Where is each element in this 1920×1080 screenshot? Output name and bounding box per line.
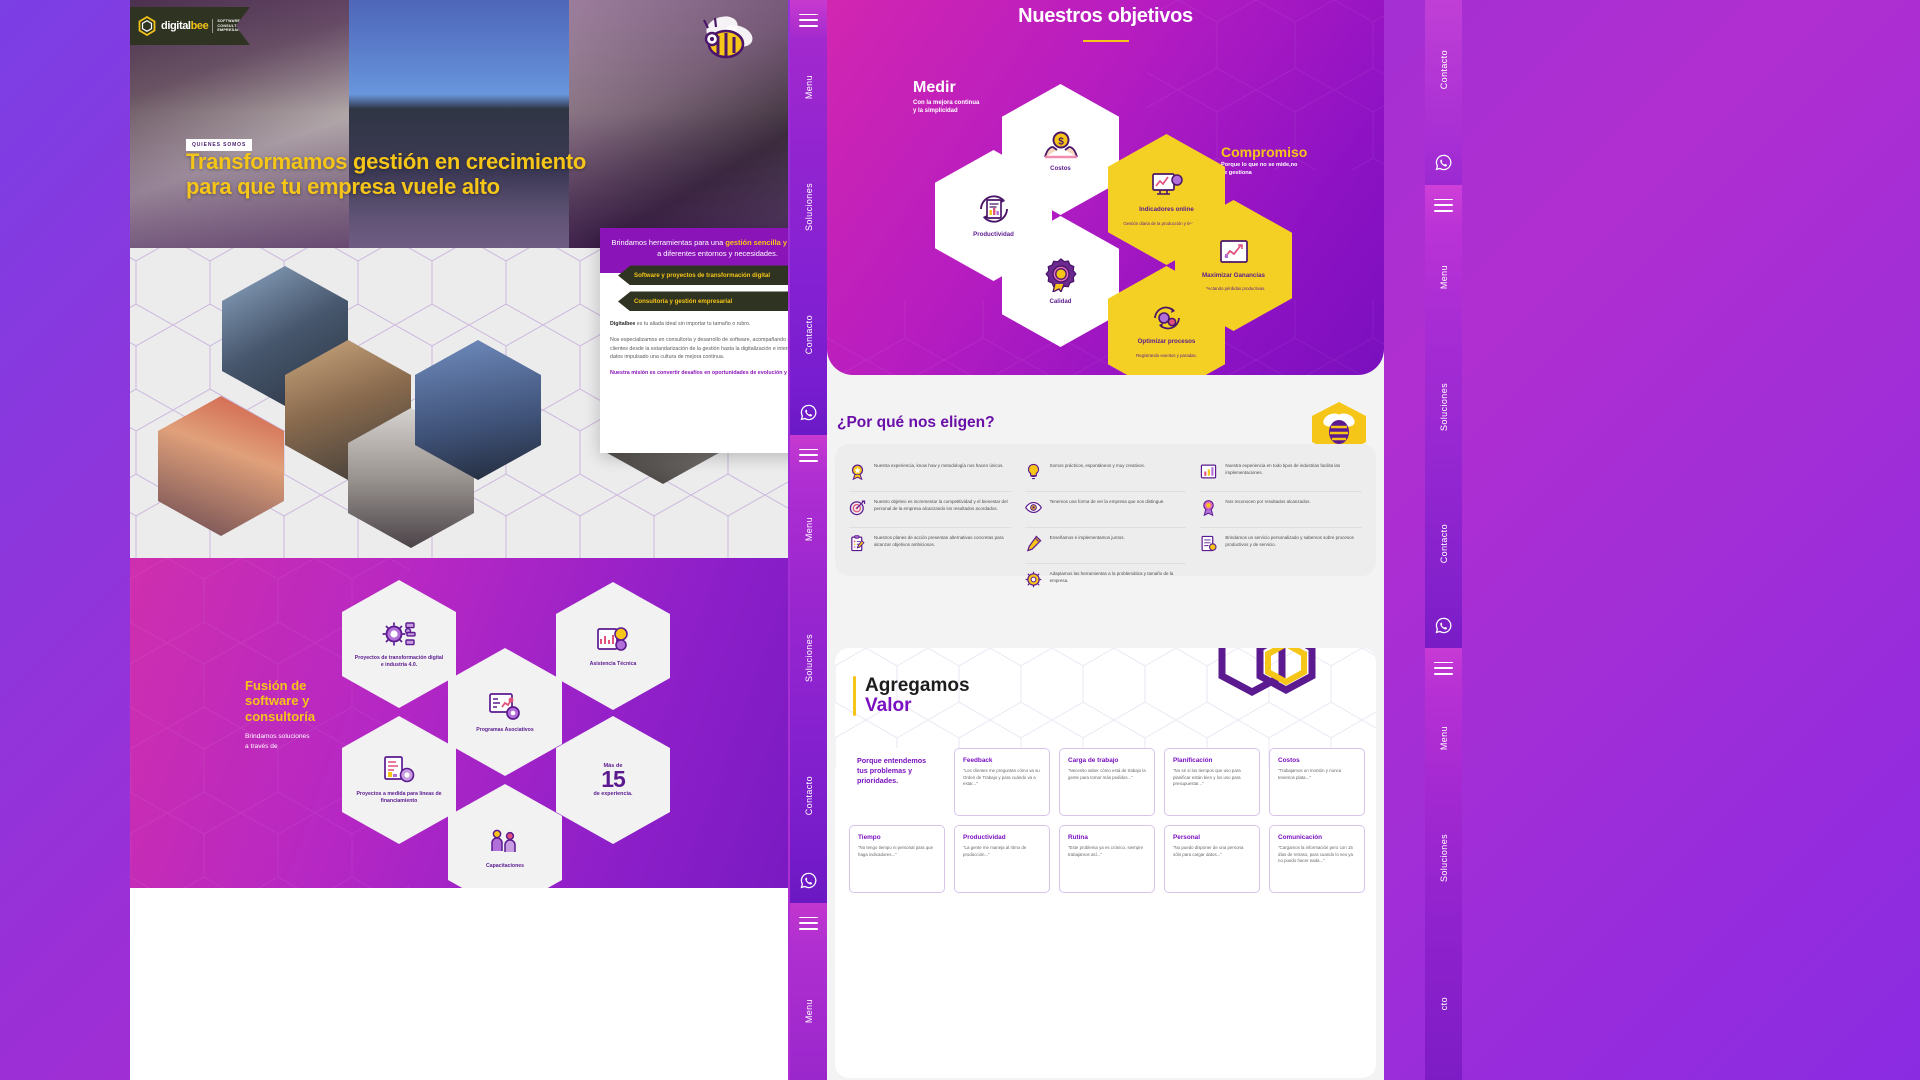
- info-cta-software[interactable]: Software y proyectos de transformación d…: [618, 265, 788, 285]
- document-gear-icon: [382, 755, 416, 785]
- rail-label: Menu: [804, 75, 814, 99]
- rail-r-item-menu-2[interactable]: Menu: [1425, 688, 1462, 788]
- value-card[interactable]: Costos"Trabajamos un montón y nunca tene…: [1269, 748, 1365, 816]
- why-us-panel: Nuestra experiencia, know how y metodolo…: [835, 444, 1376, 576]
- why-item: Somos prácticos, espontáneos y muy creat…: [1025, 456, 1187, 492]
- why-item-text: Brindamos un servicio personalizado y sa…: [1225, 535, 1362, 549]
- hero-headline: Transformamos gestión en crecimiento par…: [186, 150, 586, 199]
- hexagon-double-logo-icon: [1214, 648, 1324, 706]
- experience-block: Más de 15 de experiencia.: [594, 763, 633, 797]
- why-item-text: Nuestro objetivo es incrementar la compe…: [874, 499, 1011, 513]
- why-item: Nuestro objetivo es incrementar la compe…: [849, 492, 1011, 528]
- experience-number: 15: [594, 769, 633, 791]
- rail-r-menu-toggle-1[interactable]: [1425, 185, 1462, 225]
- value-heading: Agregamos Valor: [853, 676, 970, 716]
- service-icon: [1200, 535, 1217, 552]
- objective-hex-label: Maximizar Ganancias: [1202, 272, 1265, 280]
- money-hands-icon: $: [1043, 127, 1079, 159]
- nav-rail-left[interactable]: Menu Soluciones Contacto Menu Soluciones…: [790, 0, 827, 1080]
- value-card-title: Feedback: [963, 757, 1041, 764]
- menu-icon: [1434, 662, 1453, 675]
- rail-r-whatsapp-1[interactable]: [1425, 140, 1462, 185]
- why-item: Brindamos un servicio personalizado y sa…: [1200, 528, 1362, 564]
- value-card-text: "La gente me maneja al ritmo de producci…: [963, 845, 1041, 858]
- medir-subtitle: Con la mejora continua y la simplicidad: [913, 99, 979, 115]
- whatsapp-icon: [800, 872, 817, 889]
- objective-hex-label: Indicadores online: [1139, 206, 1194, 214]
- info-card-body: Digitalbee es tu aliada ideal sin import…: [600, 311, 788, 390]
- value-card[interactable]: Feedback"Los clientes me preguntan cómo …: [954, 748, 1050, 816]
- value-card-title: Planificación: [1173, 757, 1251, 764]
- compromiso-title: Compromiso: [1221, 145, 1307, 159]
- rail-label: Contacto: [804, 776, 814, 815]
- rail-item-soluciones-2[interactable]: Soluciones: [790, 583, 827, 733]
- whatsapp-icon: [1435, 617, 1452, 634]
- info-card-intro: Brindamos herramientas para una gestión …: [609, 238, 788, 259]
- info-card-p2: Nos especializamos en consultoría y desa…: [610, 336, 788, 362]
- menu-icon: [1434, 199, 1453, 212]
- why-item-text: Nuestra experiencia, know how y metodolo…: [874, 463, 1004, 470]
- rail-label: Soluciones: [804, 634, 814, 682]
- why-item-text: Somos prácticos, espontáneos y muy creat…: [1050, 463, 1145, 470]
- screenshot-root: digitalbee SOFTWARE Y CONSULTORÍA EMPRES…: [0, 0, 1920, 1080]
- menu-icon: [799, 449, 818, 462]
- value-card[interactable]: Carga de trabajo"Necesito saber cómo est…: [1059, 748, 1155, 816]
- rail-menu-toggle-2[interactable]: [790, 435, 827, 475]
- gears-cycle-icon: [1151, 304, 1183, 332]
- why-item-text: Tenemos una forma de ver la empresa que …: [1050, 499, 1165, 506]
- why-us-column-1: Nuestra experiencia, know how y metodolo…: [849, 456, 1011, 600]
- hexagon-bee-icon: [138, 16, 156, 36]
- rail-menu-toggle-3[interactable]: [790, 903, 827, 943]
- rail-label: Menu: [804, 999, 814, 1023]
- award-icon: [1200, 499, 1217, 516]
- rail-menu-toggle-1[interactable]: [790, 0, 827, 40]
- why-item-text: Enseñamos e implementamos juntos.: [1050, 535, 1125, 542]
- rail-r-item-contacto-2[interactable]: Contacto: [1425, 485, 1462, 603]
- value-card[interactable]: Productividad"La gente me maneja al ritm…: [954, 825, 1050, 893]
- objective-hex-label: Optimizar procesos: [1138, 338, 1196, 346]
- value-card[interactable]: Personal"No puedo disponer de una person…: [1164, 825, 1260, 893]
- logo-text-bee: bee: [191, 20, 209, 32]
- why-item: Nuestros planes de acción presentan alte…: [849, 528, 1011, 564]
- left-page-mock: digitalbee SOFTWARE Y CONSULTORÍA EMPRES…: [130, 0, 788, 1080]
- rail-r-item-contacto-1[interactable]: Contacto: [1425, 0, 1462, 140]
- hero-photo-2: [349, 0, 568, 248]
- quality-medal-icon: [1044, 258, 1078, 292]
- why-us-column-2: Somos prácticos, espontáneos y muy creat…: [1025, 456, 1187, 600]
- brand-logo[interactable]: digitalbee SOFTWARE Y CONSULTORÍA EMPRES…: [130, 7, 250, 45]
- value-card-text: "No tengo tiempo ni personal para que ha…: [858, 845, 936, 858]
- why-item-text: Adaptamos las herramientas a la problemá…: [1050, 571, 1187, 585]
- value-heading-accent-bar: [853, 676, 856, 716]
- rail-label: Menu: [804, 517, 814, 541]
- rail-label: Menu: [1439, 265, 1449, 289]
- rail-whatsapp-2[interactable]: [790, 858, 827, 903]
- solution-hex-label: Capacitaciones: [486, 863, 524, 870]
- value-card-title: Rutina: [1068, 834, 1146, 841]
- whatsapp-icon: [800, 404, 817, 421]
- eye-icon: [1025, 499, 1042, 516]
- gear-network-icon: [382, 619, 416, 649]
- bulb-icon: [1025, 463, 1042, 480]
- compromiso-subtitle: Porque lo que no se mide,no se gestiona: [1221, 162, 1307, 177]
- rail-item-menu-2[interactable]: Menu: [790, 475, 827, 583]
- why-item: Nuestra experiencia en todo tipos de ind…: [1200, 456, 1362, 492]
- clipboard-icon: [849, 535, 866, 552]
- info-cta-software-label: Software y proyectos de transformación d…: [634, 272, 770, 279]
- info-overlay-card: Brindamos herramientas para una gestión …: [600, 228, 788, 453]
- value-card-text: "Este problema ya es crónico, siempre tr…: [1068, 845, 1146, 858]
- value-card-title: Comunicación: [1278, 834, 1356, 841]
- info-card-mission: Nuestra misión es convertir desafíos en …: [610, 369, 788, 378]
- menu-icon: [799, 917, 818, 930]
- nav-rail-right[interactable]: Contacto Menu Soluciones Contacto: [1425, 0, 1462, 1080]
- rail-r-item-soluciones-2[interactable]: Soluciones: [1425, 788, 1462, 928]
- rail-label: Soluciones: [1439, 383, 1449, 431]
- solutions-section: Fusión de software y consultoría Brindam…: [130, 558, 788, 888]
- whatsapp-icon: [1435, 154, 1452, 171]
- value-card[interactable]: Rutina"Este problema ya es crónico, siem…: [1059, 825, 1155, 893]
- value-card-title: Productividad: [963, 834, 1041, 841]
- target-icon: [849, 499, 866, 516]
- rail-r-whatsapp-2[interactable]: [1425, 603, 1462, 648]
- why-item: Nos reconocen por resultados alcanzados.: [1200, 492, 1362, 528]
- why-item: Nuestra experiencia, know how y metodolo…: [849, 456, 1011, 492]
- value-card-text: "Cargamos la información pero con 15 día…: [1278, 845, 1356, 865]
- monitor-chart-icon: [1151, 172, 1183, 200]
- training-people-icon: [488, 827, 522, 857]
- solution-hex-label: Proyectos a medida para líneas de financ…: [354, 791, 444, 804]
- objective-hex-label: Costos: [1050, 165, 1071, 173]
- menu-icon: [799, 14, 818, 27]
- value-title: Agregamos Valor: [865, 676, 970, 716]
- rail-label: Contacto: [1439, 50, 1449, 89]
- objectives-compromiso-block: Compromiso Porque lo que no se mide,no s…: [1221, 145, 1307, 177]
- value-card-title: Carga de trabajo: [1068, 757, 1146, 764]
- solution-hex-label: Asistencia Técnica: [590, 661, 637, 668]
- rail-label: Soluciones: [1439, 834, 1449, 882]
- why-us-grid: Nuestra experiencia, know how y metodolo…: [849, 456, 1362, 600]
- rail-label: Contacto: [804, 315, 814, 354]
- why-us-section: ¿Por qué nos eligen?: [827, 392, 1384, 612]
- value-section: Agregamos Valor Porque entendemos tus pr…: [835, 648, 1376, 1078]
- solution-hex-label: Proyectos de transformación digital e in…: [354, 655, 444, 668]
- solutions-title: Fusión de software y consultoría: [245, 678, 370, 724]
- objective-hex-label: Productividad: [973, 231, 1014, 239]
- rail-item-contacto-2[interactable]: Contacto: [790, 733, 827, 858]
- value-card[interactable]: Tiempo"No tengo tiempo ni personal para …: [849, 825, 945, 893]
- hero-photo-3: [569, 0, 788, 248]
- rail-whatsapp-1[interactable]: [790, 390, 827, 435]
- rail-item-menu-1[interactable]: Menu: [790, 40, 827, 135]
- objective-hex-desc: Registrando eventos y paradas.: [1136, 353, 1197, 359]
- svg-text:$: $: [1058, 136, 1064, 147]
- medir-title: Medir: [913, 80, 979, 96]
- rail-r-item-soluciones-1[interactable]: Soluciones: [1425, 330, 1462, 485]
- objectives-title-rule: [1083, 40, 1129, 42]
- rail-r-item-contacto-3[interactable]: cto: [1425, 928, 1462, 1080]
- value-lead-card: Porque entendemos tus problemas y priori…: [849, 748, 945, 816]
- objectives-section: Nuestros objetivos Medir Con la mejora c…: [827, 0, 1384, 375]
- why-item: Enseñamos e implementamos juntos.: [1025, 528, 1187, 564]
- rail-item-menu-3[interactable]: Menu: [790, 943, 827, 1080]
- info-card-p1: Digitalbee es tu aliada ideal sin import…: [610, 320, 788, 329]
- objectives-title: Nuestros objetivos: [827, 5, 1384, 28]
- why-us-title: ¿Por qué nos eligen?: [837, 414, 995, 432]
- value-card-title: Costos: [1278, 757, 1356, 764]
- right-page-mock: Nuestros objetivos Medir Con la mejora c…: [827, 0, 1384, 1080]
- report-cycle-icon: [976, 193, 1012, 225]
- value-card-text: "No sé si los tiempos que uso para plani…: [1173, 768, 1251, 788]
- value-card[interactable]: Planificación"No sé si los tiempos que u…: [1164, 748, 1260, 816]
- why-item: Adaptamos las herramientas a la problemá…: [1025, 564, 1187, 600]
- value-lead-text: Porque entendemos tus problemas y priori…: [857, 756, 937, 786]
- value-card-title: Personal: [1173, 834, 1251, 841]
- hero-headline-line1: Transformamos gestión en crecimiento: [186, 150, 586, 175]
- info-cta-consultoria-label: Consultoría y gestión empresarial: [634, 298, 732, 305]
- rail-item-soluciones-1[interactable]: Soluciones: [790, 135, 827, 280]
- experience-post: de experiencia.: [594, 791, 633, 797]
- value-card[interactable]: Comunicación"Cargamos la información per…: [1269, 825, 1365, 893]
- hero-headline-line2: para que tu empresa vuele alto: [186, 175, 586, 200]
- solution-hex-label: Programas Asociativos: [476, 727, 533, 734]
- rail-label: Contacto: [1439, 524, 1449, 563]
- objectives-medir-block: Medir Con la mejora continua y la simpli…: [913, 80, 979, 115]
- dashboard-icon: [488, 691, 522, 721]
- value-card-text: "No puedo disponer de una persona sólo p…: [1173, 845, 1251, 858]
- growth-chart-icon: [1219, 239, 1249, 266]
- why-item-text: Nuestros planes de acción presentan alte…: [874, 535, 1011, 549]
- objective-hex-label: Calidad: [1049, 298, 1071, 306]
- info-cta-consultoria[interactable]: Consultoría y gestión empresarial →: [618, 291, 788, 311]
- rail-label: Soluciones: [804, 183, 814, 231]
- value-card-text: "Necesito saber cómo está de trabajo la …: [1068, 768, 1146, 781]
- value-card-title: Tiempo: [858, 834, 936, 841]
- rail-label: Menu: [1439, 726, 1449, 750]
- why-item-text: Nuestra experiencia en todo tipos de ind…: [1225, 463, 1362, 477]
- rail-r-menu-toggle-2[interactable]: [1425, 648, 1462, 688]
- value-card-text: "Los clientes me preguntan cómo va su Or…: [963, 768, 1041, 788]
- rail-label: cto: [1439, 997, 1449, 1010]
- why-item-text: Nos reconocen por resultados alcanzados.: [1225, 499, 1310, 506]
- value-card-text: "Trabajamos un montón y nunca tenemos pl…: [1278, 768, 1356, 781]
- why-us-column-3: Nuestra experiencia en todo tipos de ind…: [1200, 456, 1362, 600]
- solutions-heading: Fusión de software y consultoría Brindam…: [245, 678, 370, 751]
- medal-icon: [849, 463, 866, 480]
- support-chart-icon: [596, 625, 630, 655]
- why-item: Tenemos una forma de ver la empresa que …: [1025, 492, 1187, 528]
- rail-r-item-menu-1[interactable]: Menu: [1425, 225, 1462, 330]
- rail-item-contacto-1[interactable]: Contacto: [790, 280, 827, 390]
- chart-icon: [1200, 463, 1217, 480]
- value-cards-grid: Porque entendemos tus problemas y priori…: [849, 748, 1365, 893]
- pencil-icon: [1025, 535, 1042, 552]
- logo-text-digital: digital: [161, 20, 191, 32]
- tools-icon: [1025, 571, 1042, 588]
